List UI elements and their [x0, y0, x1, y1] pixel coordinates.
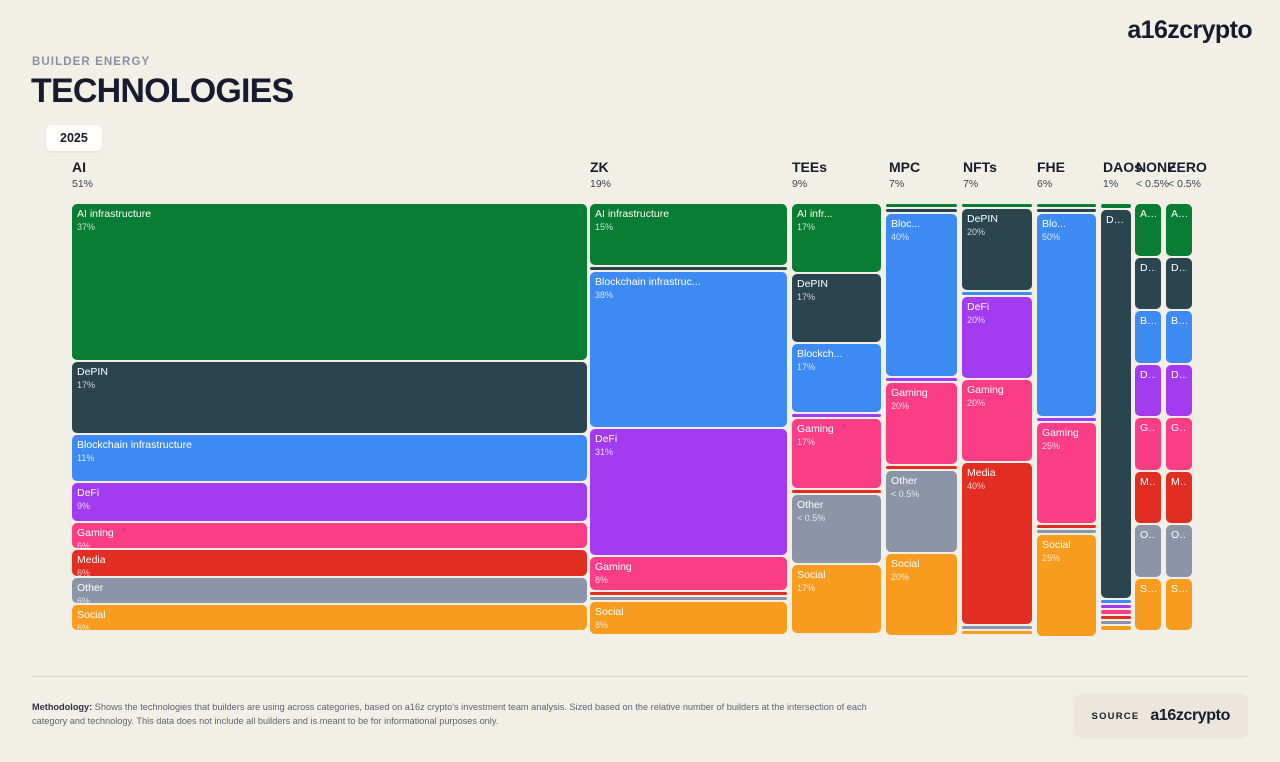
treemap-tile[interactable]: Media: [590, 592, 787, 595]
tile-label: Gaming: [1140, 422, 1156, 434]
treemap-tile[interactable]: Gaming6%: [72, 523, 587, 548]
methodology-text: Shows the technologies that builders are…: [32, 702, 867, 726]
column-header: AI51%: [72, 160, 93, 191]
column-tiles: AI infrastructureDePINBlo...50%DeFiGamin…: [1037, 204, 1096, 630]
treemap-tile[interactable]: Social: [1135, 579, 1161, 631]
treemap-tile[interactable]: Gaming: [1101, 610, 1131, 613]
tile-percent: 6%: [77, 541, 582, 548]
source-badge: SOURCE a16zcrypto: [1074, 694, 1248, 738]
tile-label: Gaming: [797, 423, 876, 435]
tile-label: Other: [891, 475, 952, 487]
tile-percent: 17%: [797, 362, 876, 373]
tile-percent: 38%: [595, 290, 782, 301]
column-header: NFTs7%: [963, 160, 997, 191]
treemap-tile[interactable]: Media: [886, 466, 957, 469]
treemap-column-mpc: MPC7%AI infrastructureDePINBloc...40%DeF…: [886, 160, 957, 630]
tile-label: Other: [1171, 529, 1187, 541]
treemap-tile[interactable]: Other: [1166, 525, 1192, 577]
treemap-tile[interactable]: DePIN17%: [72, 362, 587, 433]
column-name: ZK: [590, 160, 611, 175]
tile-percent: 17%: [797, 583, 876, 594]
column-name: ZERO: [1168, 160, 1207, 175]
treemap-tile[interactable]: DeFi: [1037, 418, 1096, 421]
column-share: 19%: [590, 178, 611, 191]
column-header: ZK19%: [590, 160, 611, 191]
treemap-tile[interactable]: Media: [1101, 616, 1131, 619]
treemap-infographic: a16zcrypto BUILDER ENERGY TECHNOLOGIES 2…: [0, 0, 1280, 762]
tile-label: Media: [967, 467, 1027, 479]
tile-label: Blockchain infrastructure: [1140, 315, 1156, 327]
tile-label: Media: [77, 554, 582, 566]
treemap-tile[interactable]: AI infrastructure: [1037, 204, 1096, 207]
tile-percent: 40%: [891, 232, 952, 243]
treemap-tile[interactable]: Gaming17%: [792, 419, 881, 487]
tile-percent: 40%: [967, 481, 1027, 492]
treemap-tile[interactable]: DePIN: [590, 267, 787, 270]
tile-label: AI infrastructure: [77, 208, 582, 220]
tile-percent: 31%: [595, 447, 782, 458]
tile-label: DePIN: [797, 278, 876, 290]
column-tiles: AI infr...17%DePIN17%Blockch...17%DeFiGa…: [792, 204, 881, 630]
column-header: MPC7%: [889, 160, 920, 191]
methodology-note: Methodology: Shows the technologies that…: [32, 700, 892, 728]
treemap-tile[interactable]: Media: [1166, 472, 1192, 524]
eyebrow-label: BUILDER ENERGY: [32, 56, 150, 68]
tile-percent: 8%: [595, 620, 782, 631]
tile-label: Blockchain infrastructure: [77, 439, 582, 451]
column-tiles: AI infrastructureDePINBlockchain infrast…: [1166, 204, 1192, 630]
tile-percent: 20%: [967, 315, 1027, 326]
column-name: MPC: [889, 160, 920, 175]
tile-label: Social: [595, 606, 782, 618]
treemap-tile[interactable]: Blockchain infrastructure: [1135, 311, 1161, 363]
tile-label: Other: [77, 582, 582, 594]
treemap-tile[interactable]: Blockchain infrastructure: [1101, 600, 1131, 603]
treemap-tile[interactable]: DePIN: [886, 209, 957, 212]
treemap-tile[interactable]: DeFi9%: [72, 483, 587, 521]
treemap-column-fhe: FHE6%AI infrastructureDePINBlo...50%DeFi…: [1037, 160, 1096, 630]
treemap-column-zero: ZERO< 0.5%AI infrastructureDePINBlockcha…: [1166, 160, 1192, 630]
tile-percent: 6%: [77, 623, 582, 630]
tile-percent: 17%: [797, 292, 876, 303]
tile-label: Social: [1140, 583, 1156, 595]
column-tiles: AI infrastructure15%DePINBlockchain infr…: [590, 204, 787, 630]
tile-label: DeFi: [1140, 369, 1156, 381]
treemap-tile[interactable]: Social8%: [590, 602, 787, 635]
tile-label: Blockchain infrastructure: [1171, 315, 1187, 327]
footer-divider: [32, 676, 1248, 677]
treemap-tile[interactable]: Gaming20%: [886, 383, 957, 464]
treemap-tile[interactable]: AI infrastructure: [1166, 204, 1192, 256]
column-name: NFTs: [963, 160, 997, 175]
tile-label: Gaming: [1171, 422, 1187, 434]
tile-label: Other: [1140, 529, 1156, 541]
tile-percent: 15%: [595, 222, 782, 233]
tile-label: DeFi: [77, 487, 582, 499]
tile-label: Gaming: [891, 387, 952, 399]
tile-percent: 37%: [77, 222, 582, 233]
tile-percent: 25%: [1042, 553, 1091, 564]
column-share: 9%: [792, 178, 827, 191]
treemap-column-none: NONE< 0.5%AI infrastructureDePINBlockcha…: [1135, 160, 1161, 630]
column-header: TEEs9%: [792, 160, 827, 191]
treemap-column-ai: AI51%AI infrastructure37%DePIN17%Blockch…: [72, 160, 587, 630]
column-name: TEEs: [792, 160, 827, 175]
column-share: < 0.5%: [1168, 178, 1207, 191]
treemap-tile[interactable]: AI infr...17%: [792, 204, 881, 272]
column-header: ZERO< 0.5%: [1168, 160, 1207, 191]
tile-label: DePIN: [1171, 262, 1187, 274]
tile-label: Media: [1140, 476, 1156, 488]
methodology-label: Methodology:: [32, 702, 92, 712]
tile-percent: 11%: [77, 453, 582, 464]
treemap-tile[interactable]: Other6%: [72, 578, 587, 603]
tile-label: AI infrastructure: [595, 208, 782, 220]
treemap-tile[interactable]: AI infrastructure: [962, 204, 1032, 207]
treemap-tile[interactable]: Other< 0.5%: [886, 471, 957, 552]
tile-label: AI infrastructure: [1171, 208, 1187, 220]
treemap-tile[interactable]: Bloc...40%: [886, 214, 957, 376]
treemap-tile[interactable]: Social: [962, 631, 1032, 634]
treemap-tile[interactable]: AI infrastructure: [886, 204, 957, 207]
treemap-tile[interactable]: Media: [1037, 525, 1096, 528]
treemap-tile[interactable]: Social6%: [72, 605, 587, 630]
treemap-tile[interactable]: Blockchain infrastructure11%: [72, 435, 587, 481]
tile-percent: 50%: [1042, 232, 1091, 243]
tile-percent: < 0.5%: [797, 513, 876, 524]
tile-percent: 17%: [797, 222, 876, 233]
treemap-tile[interactable]: Social25%: [1037, 535, 1096, 636]
tile-label: Social: [77, 609, 582, 621]
source-label: SOURCE: [1092, 711, 1140, 722]
treemap-tile[interactable]: Blockchain infrastructure: [1166, 311, 1192, 363]
column-tiles: AI infrastructureDePINBlockchain infrast…: [1135, 204, 1161, 630]
tile-label: Gaming: [967, 384, 1027, 396]
column-tiles: AI infrastructureDePINBloc...40%DeFiGami…: [886, 204, 957, 630]
treemap-tile[interactable]: DePIN20%: [962, 209, 1032, 290]
treemap-tile[interactable]: DePIN: [1101, 210, 1131, 599]
treemap-column-nfts: NFTs7%AI infrastructureDePIN20%Blockchai…: [962, 160, 1032, 630]
tile-percent: 6%: [77, 568, 582, 575]
tile-percent: 25%: [1042, 441, 1091, 452]
column-header: FHE6%: [1037, 160, 1065, 191]
tile-label: Blockchain infrastruc...: [595, 276, 782, 288]
treemap-tile[interactable]: Other: [590, 597, 787, 600]
tile-label: DePIN: [1106, 214, 1126, 226]
treemap-tile[interactable]: Blockchain infrastructure: [962, 292, 1032, 295]
tile-label: Social: [797, 569, 876, 581]
treemap-tile[interactable]: Blockch...17%: [792, 344, 881, 412]
treemap-tile[interactable]: Media: [1135, 472, 1161, 524]
tile-percent: 17%: [77, 380, 582, 391]
tile-label: DeFi: [1171, 369, 1187, 381]
treemap-tile[interactable]: Gaming20%: [962, 380, 1032, 461]
column-share: 7%: [963, 178, 997, 191]
treemap-tile[interactable]: Social20%: [886, 554, 957, 635]
treemap-tile[interactable]: Other: [962, 626, 1032, 629]
tile-label: Media: [1171, 476, 1187, 488]
treemap-column-daos: DAOs1%AI infrastructureDePINBlockchain i…: [1101, 160, 1131, 630]
tile-label: Gaming: [1042, 427, 1091, 439]
tile-label: Social: [1171, 583, 1187, 595]
tile-label: AI infr...: [797, 208, 876, 220]
tile-label: Gaming: [77, 527, 582, 539]
treemap-tile[interactable]: DeFi: [1166, 365, 1192, 417]
treemap-tile[interactable]: DePIN: [1135, 258, 1161, 310]
treemap-column-tees: TEEs9%AI infr...17%DePIN17%Blockch...17%…: [792, 160, 881, 630]
tile-percent: 20%: [891, 572, 952, 583]
tile-label: AI infrastructure: [1140, 208, 1156, 220]
a16zcrypto-logo: a16zcrypto: [1127, 16, 1252, 45]
treemap-tile[interactable]: Social: [1101, 626, 1131, 630]
column-name: FHE: [1037, 160, 1065, 175]
treemap-tile[interactable]: Social: [1166, 579, 1192, 631]
treemap-tile[interactable]: DePIN17%: [792, 274, 881, 342]
tile-label: DeFi: [967, 301, 1027, 313]
tile-label: Social: [1042, 539, 1091, 551]
treemap-tile[interactable]: Other: [1101, 621, 1131, 624]
treemap-tile[interactable]: Other: [1037, 530, 1096, 533]
tile-label: DePIN: [967, 213, 1027, 225]
treemap-tile[interactable]: AI infrastructure37%: [72, 204, 587, 360]
treemap-tile[interactable]: DeFi: [1101, 605, 1131, 608]
tile-label: Bloc...: [891, 218, 952, 230]
tile-percent: 20%: [891, 401, 952, 412]
tile-percent: 20%: [967, 227, 1027, 238]
column-name: AI: [72, 160, 93, 175]
tile-percent: 6%: [77, 596, 582, 603]
treemap-tile[interactable]: Gaming: [1166, 418, 1192, 470]
treemap-tile[interactable]: Media: [792, 490, 881, 493]
treemap-tile[interactable]: DePIN: [1166, 258, 1192, 310]
treemap-tile[interactable]: DePIN: [1037, 209, 1096, 212]
column-tiles: AI infrastructure37%DePIN17%Blockchain i…: [72, 204, 587, 630]
tile-label: Social: [891, 558, 952, 570]
treemap-tile[interactable]: Media6%: [72, 550, 587, 575]
treemap-tile[interactable]: DeFi20%: [962, 297, 1032, 378]
year-filter-chip[interactable]: 2025: [46, 125, 102, 151]
column-tiles: AI infrastructureDePINBlockchain infrast…: [1101, 204, 1131, 630]
treemap-tile[interactable]: Social17%: [792, 565, 881, 633]
treemap-chart: AI51%AI infrastructure37%DePIN17%Blockch…: [0, 160, 1280, 630]
column-tiles: AI infrastructureDePIN20%Blockchain infr…: [962, 204, 1032, 630]
tile-percent: 8%: [595, 575, 782, 586]
treemap-tile[interactable]: AI infrastructure: [1101, 204, 1131, 208]
treemap-tile[interactable]: Gaming: [1135, 418, 1161, 470]
treemap-tile[interactable]: AI infrastructure15%: [590, 204, 787, 265]
source-logo: a16zcrypto: [1150, 707, 1230, 725]
tile-label: DePIN: [1140, 262, 1156, 274]
treemap-tile[interactable]: Gaming25%: [1037, 423, 1096, 524]
treemap-tile[interactable]: DeFi: [792, 414, 881, 417]
treemap-tile[interactable]: Media40%: [962, 463, 1032, 625]
column-share: 6%: [1037, 178, 1065, 191]
treemap-tile[interactable]: Blo...50%: [1037, 214, 1096, 416]
tile-label: Other: [797, 499, 876, 511]
treemap-tile[interactable]: Other: [1135, 525, 1161, 577]
treemap-tile[interactable]: Gaming8%: [590, 557, 787, 590]
treemap-tile[interactable]: Blockchain infrastruc...38%: [590, 272, 787, 427]
treemap-tile[interactable]: AI infrastructure: [1135, 204, 1161, 256]
treemap-tile[interactable]: Other< 0.5%: [792, 495, 881, 563]
tile-label: DeFi: [595, 433, 782, 445]
treemap-tile[interactable]: DeFi31%: [590, 429, 787, 555]
page-title: TECHNOLOGIES: [31, 72, 293, 111]
tile-percent: < 0.5%: [891, 489, 952, 500]
tile-label: Blockch...: [797, 348, 876, 360]
treemap-column-zk: ZK19%AI infrastructure15%DePINBlockchain…: [590, 160, 787, 630]
treemap-tile[interactable]: DeFi: [886, 378, 957, 381]
column-share: 7%: [889, 178, 920, 191]
column-share: 51%: [72, 178, 93, 191]
tile-percent: 9%: [77, 501, 582, 512]
treemap-tile[interactable]: DeFi: [1135, 365, 1161, 417]
tile-label: DePIN: [77, 366, 582, 378]
tile-percent: 17%: [797, 437, 876, 448]
tile-label: Blo...: [1042, 218, 1091, 230]
tile-label: Gaming: [595, 561, 782, 573]
tile-percent: 20%: [967, 398, 1027, 409]
